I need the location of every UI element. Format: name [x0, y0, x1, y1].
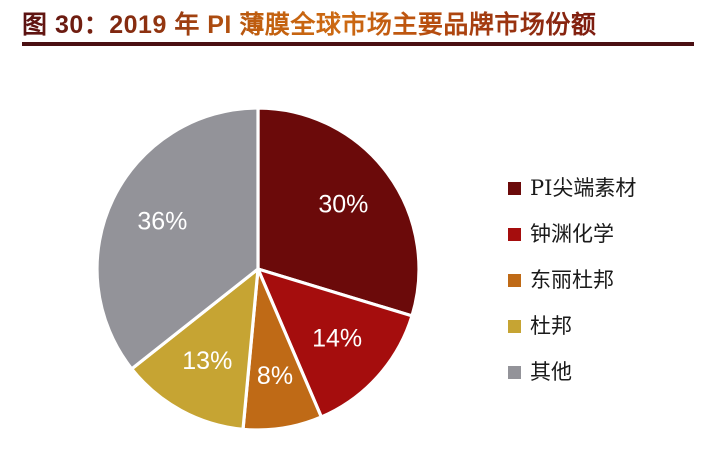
- legend-item-label: 钟渊化学: [530, 224, 614, 245]
- pie-chart: 30%14%8%13%36%: [96, 107, 420, 431]
- pie-chart-svg: 30%14%8%13%36%: [96, 107, 420, 431]
- legend-swatch-icon: [508, 320, 521, 333]
- chart-legend: PI尖端素材钟渊化学东丽杜邦杜邦其他: [508, 165, 698, 395]
- legend-item-label: 其他: [530, 362, 572, 383]
- legend-item[interactable]: 其他: [508, 349, 698, 395]
- legend-swatch-icon: [508, 182, 521, 195]
- page-title: 图 30：2019 年 PI 薄膜全球市场主要品牌市场份额: [22, 5, 596, 41]
- legend-item[interactable]: 东丽杜邦: [508, 257, 698, 303]
- legend-item[interactable]: 杜邦: [508, 303, 698, 349]
- pie-slice-label: 14%: [312, 325, 362, 353]
- legend-swatch-icon: [508, 228, 521, 241]
- chart-title-block: 图 30：2019 年 PI 薄膜全球市场主要品牌市场份额: [0, 0, 716, 52]
- legend-swatch-icon: [508, 274, 521, 287]
- chart-figure: 图 30：2019 年 PI 薄膜全球市场主要品牌市场份额 30%14%8%13…: [0, 0, 716, 466]
- legend-item[interactable]: 钟渊化学: [508, 211, 698, 257]
- pie-slice-label: 30%: [318, 190, 368, 218]
- legend-item-label: 杜邦: [530, 316, 572, 337]
- pie-slice-label: 13%: [182, 347, 232, 375]
- legend-swatch-icon: [508, 366, 521, 379]
- legend-item-label: PI尖端素材: [530, 178, 636, 199]
- legend-item[interactable]: PI尖端素材: [508, 165, 698, 211]
- pie-slice-label: 36%: [137, 207, 187, 235]
- pie-slice-label: 8%: [257, 362, 293, 390]
- title-underline-rule: [22, 42, 694, 46]
- legend-item-label: 东丽杜邦: [530, 270, 614, 291]
